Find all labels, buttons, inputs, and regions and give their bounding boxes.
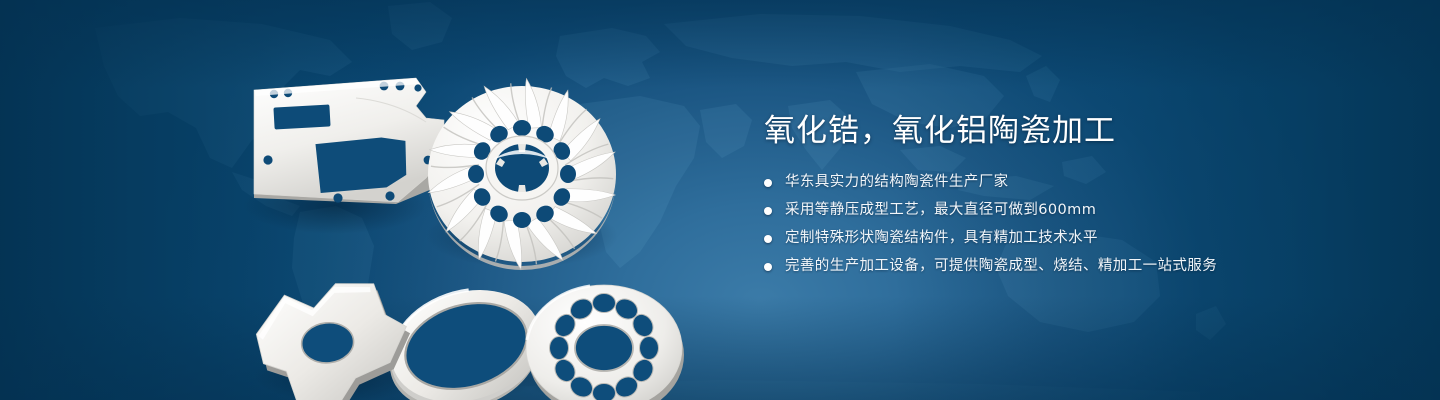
ceramic-impeller-part [428,79,616,270]
bullet-dot-icon [764,235,772,243]
feature-list: 华东具实力的结构陶瓷件生产厂家 采用等静压成型工艺，最大直径可做到600mm 定… [764,172,1384,277]
promo-banner: 氧化锆，氧化铝陶瓷加工 华东具实力的结构陶瓷件生产厂家 采用等静压成型工艺，最大… [0,0,1440,400]
feature-text: 华东具实力的结构陶瓷件生产厂家 [785,172,1009,193]
feature-item: 华东具实力的结构陶瓷件生产厂家 [764,172,1384,193]
feature-item: 采用等静压成型工艺，最大直径可做到600mm [764,200,1384,221]
bullet-dot-icon [764,263,772,271]
feature-text: 完善的生产加工设备，可提供陶瓷成型、烧结、精加工一站式服务 [785,256,1217,277]
ceramic-products-image [230,46,730,386]
banner-copy: 氧化锆，氧化铝陶瓷加工 华东具实力的结构陶瓷件生产厂家 采用等静压成型工艺，最大… [764,112,1384,284]
banner-headline: 氧化锆，氧化铝陶瓷加工 [764,112,1384,150]
feature-text: 定制特殊形状陶瓷结构件，具有精加工技术水平 [785,228,1098,249]
feature-item: 定制特殊形状陶瓷结构件，具有精加工技术水平 [764,228,1384,249]
bullet-dot-icon [764,179,772,187]
feature-item: 完善的生产加工设备，可提供陶瓷成型、烧结、精加工一站式服务 [764,256,1384,277]
ceramic-perforated-disc-part [526,285,684,400]
feature-text: 采用等静压成型工艺，最大直径可做到600mm [785,200,1096,221]
bullet-dot-icon [764,207,772,215]
